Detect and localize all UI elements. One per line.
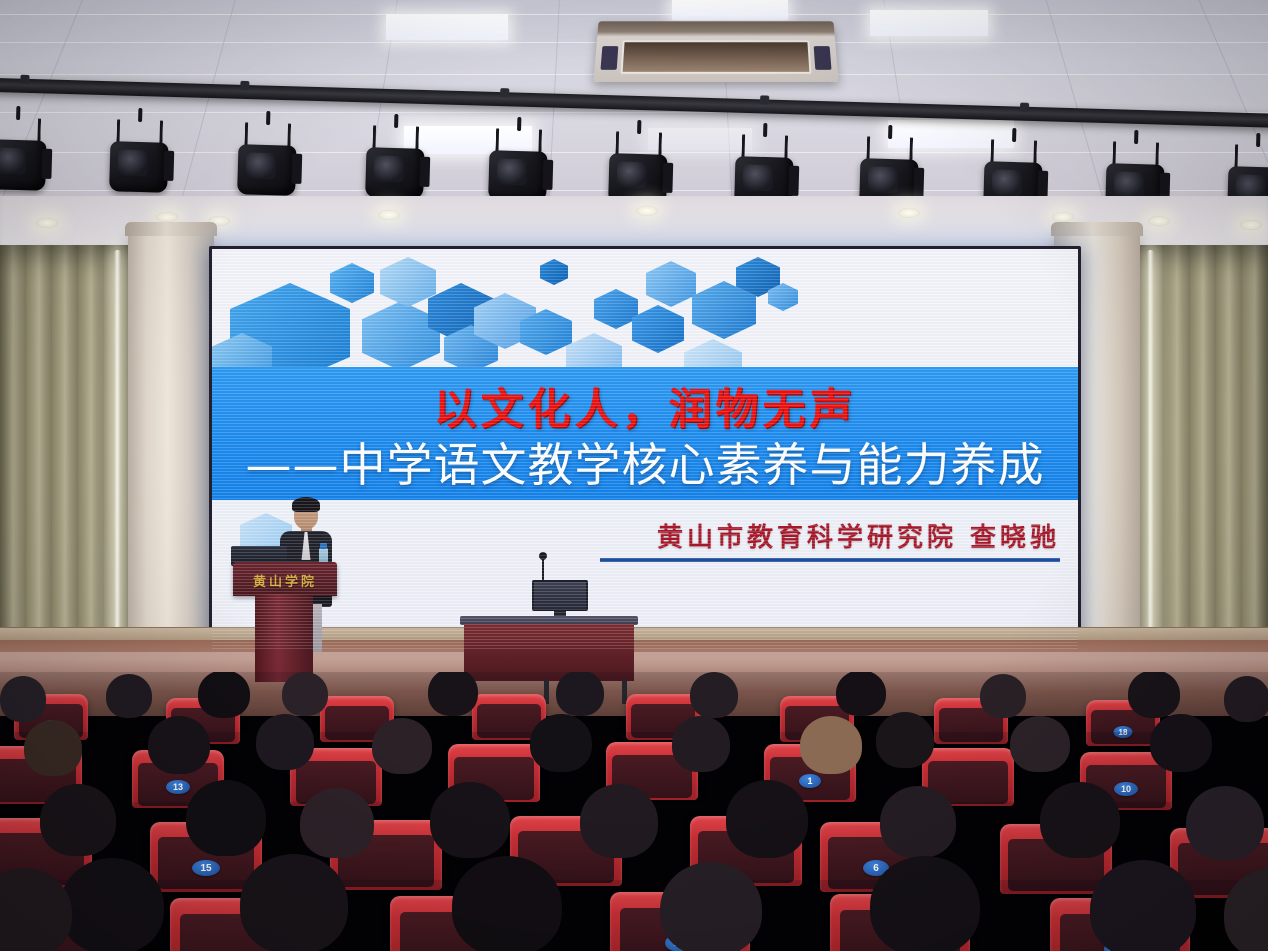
audience-head bbox=[24, 720, 82, 776]
audience-head bbox=[836, 672, 886, 716]
lectern-label: 黄山学院 bbox=[233, 571, 337, 590]
recessed-panel-light bbox=[870, 10, 988, 36]
downlight-icon bbox=[1148, 216, 1170, 226]
recessed-panel-light bbox=[672, 0, 788, 20]
downlight-icon bbox=[378, 210, 400, 220]
audience-head bbox=[1040, 782, 1120, 858]
audience-head bbox=[556, 672, 604, 716]
audience-head bbox=[726, 780, 808, 858]
lectern: 黄山学院 bbox=[233, 562, 337, 680]
audience-seating: 09 18 13 1 10 bbox=[0, 672, 1268, 951]
audience-head bbox=[430, 782, 510, 858]
stage-light-icon bbox=[107, 119, 171, 199]
confidence-monitor bbox=[532, 580, 588, 611]
downlight-icon bbox=[36, 218, 58, 228]
audience-head bbox=[60, 858, 164, 951]
audience-head bbox=[240, 854, 348, 951]
slide-title-main: 以文化人，润物无声 bbox=[212, 375, 1078, 437]
vertical-light-strip bbox=[114, 250, 121, 680]
audience-head bbox=[580, 784, 658, 858]
audience-head bbox=[40, 784, 116, 856]
audience-head bbox=[1090, 860, 1196, 951]
stage-light-icon bbox=[0, 117, 49, 197]
downlight-icon bbox=[898, 208, 920, 218]
seat-number-badge: 13 bbox=[166, 780, 190, 794]
audience-head bbox=[186, 780, 266, 856]
auditorium-scene: 以文化人，润物无声 ——中学语文教学核心素养与能力养成 黄山市教育科学研究院 查… bbox=[0, 0, 1268, 951]
stage-light-icon bbox=[235, 122, 299, 202]
audience-head bbox=[1010, 716, 1070, 772]
audience-head bbox=[980, 674, 1026, 718]
audience-head bbox=[106, 674, 152, 718]
audience-head bbox=[876, 712, 934, 768]
decorative-cube-graphics bbox=[212, 249, 1078, 369]
audience-head bbox=[1150, 714, 1212, 772]
audience-head bbox=[198, 672, 250, 718]
downlight-icon bbox=[636, 206, 658, 216]
audience-head bbox=[1186, 786, 1264, 860]
audience-head bbox=[282, 672, 328, 716]
audience-head bbox=[870, 856, 980, 951]
audience-head bbox=[428, 672, 478, 716]
audience-head bbox=[452, 856, 562, 951]
stage-light-icon bbox=[363, 125, 427, 205]
audience-head bbox=[530, 714, 592, 772]
slide-credit-text: 黄山市教育科学研究院 查晓驰 bbox=[600, 517, 1060, 554]
audience-head bbox=[690, 672, 738, 718]
slide-title-banner: 以文化人，润物无声 ——中学语文教学核心素养与能力养成 bbox=[212, 367, 1078, 500]
recessed-panel-light bbox=[386, 14, 508, 40]
downlight-icon bbox=[156, 212, 178, 222]
downlight-icon bbox=[1240, 220, 1262, 230]
audience-head bbox=[372, 718, 432, 774]
downlight-icon bbox=[1052, 212, 1074, 222]
audience-head bbox=[300, 788, 374, 858]
audience-head bbox=[1224, 676, 1268, 722]
seat-number-badge: 1 bbox=[799, 774, 821, 788]
audience-head bbox=[0, 676, 46, 722]
audience-head bbox=[880, 786, 956, 858]
audience-head bbox=[672, 716, 730, 772]
bottle-cap bbox=[320, 543, 327, 549]
led-presentation-screen[interactable]: 以文化人，润物无声 ——中学语文教学核心素养与能力养成 黄山市教育科学研究院 查… bbox=[209, 246, 1081, 652]
ceiling-air-conditioner-icon bbox=[593, 21, 838, 82]
audience-head bbox=[148, 716, 210, 774]
seat-number-badge: 15 bbox=[192, 860, 220, 876]
audience-head bbox=[800, 716, 862, 774]
audience-head bbox=[660, 862, 762, 951]
presenter-hair bbox=[292, 497, 320, 512]
audience-head bbox=[256, 714, 314, 770]
audience-head bbox=[1128, 672, 1180, 718]
seat-number-badge: 10 bbox=[1114, 782, 1138, 796]
slide-credit-block: 黄山市教育科学研究院 查晓驰 bbox=[600, 517, 1060, 562]
vertical-light-strip bbox=[1147, 250, 1154, 680]
slide-title-sub: ——中学语文教学核心素养与能力养成 bbox=[212, 429, 1078, 495]
slide-credit-rule bbox=[600, 558, 1060, 562]
